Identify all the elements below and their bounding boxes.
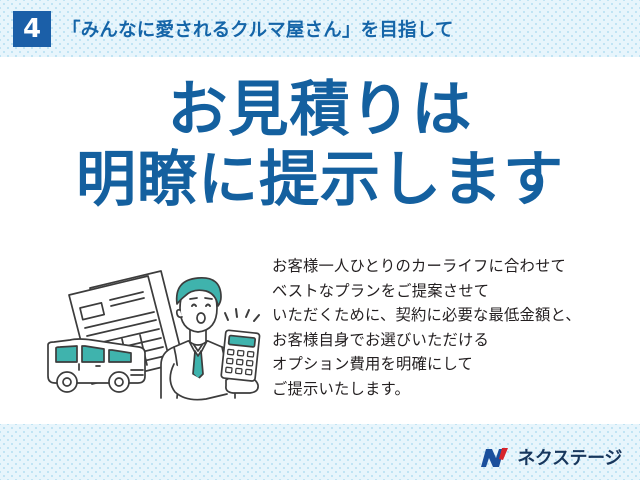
header-title: 「みんなに愛されるクルマ屋さん」を目指して (62, 16, 454, 42)
body-copy-line-2: ベストなプランをご提案させて (272, 280, 637, 305)
brand-logo: ネクステージ (477, 444, 622, 472)
body-copy-line-5: オプション費用を明確にして (272, 353, 637, 378)
main-content: お見積りは 明瞭に提示します (0, 57, 640, 424)
step-number-badge: 4 (13, 11, 51, 47)
promo-banner: 4 「みんなに愛されるクルマ屋さん」を目指して お見積りは 明瞭に提示します (0, 0, 640, 480)
headline-line-2: 明瞭に提示します (0, 150, 640, 210)
nextage-n-mark-icon (477, 446, 511, 470)
header: 4 「みんなに愛されるクルマ屋さん」を目指して (0, 0, 640, 57)
body-copy: お客様一人ひとりのカーライフに合わせて ベストなプランをご提案させて いただくた… (272, 255, 637, 403)
illustration-svg (30, 252, 280, 412)
body-copy-line-3: いただくために、契約に必要な最低金額と、 (272, 304, 637, 329)
brand-logo-text: ネクステージ (517, 449, 622, 467)
body-copy-line-1: お客様一人ひとりのカーライフに合わせて (272, 255, 637, 280)
body-copy-line-4: お客様自身でお選びいただける (272, 329, 637, 354)
body-copy-line-6: ご提示いたします。 (272, 378, 637, 403)
headline-line-1: お見積りは (0, 80, 640, 140)
headline: お見積りは 明瞭に提示します (0, 80, 640, 210)
illustration-salesperson-quotation (30, 252, 280, 412)
